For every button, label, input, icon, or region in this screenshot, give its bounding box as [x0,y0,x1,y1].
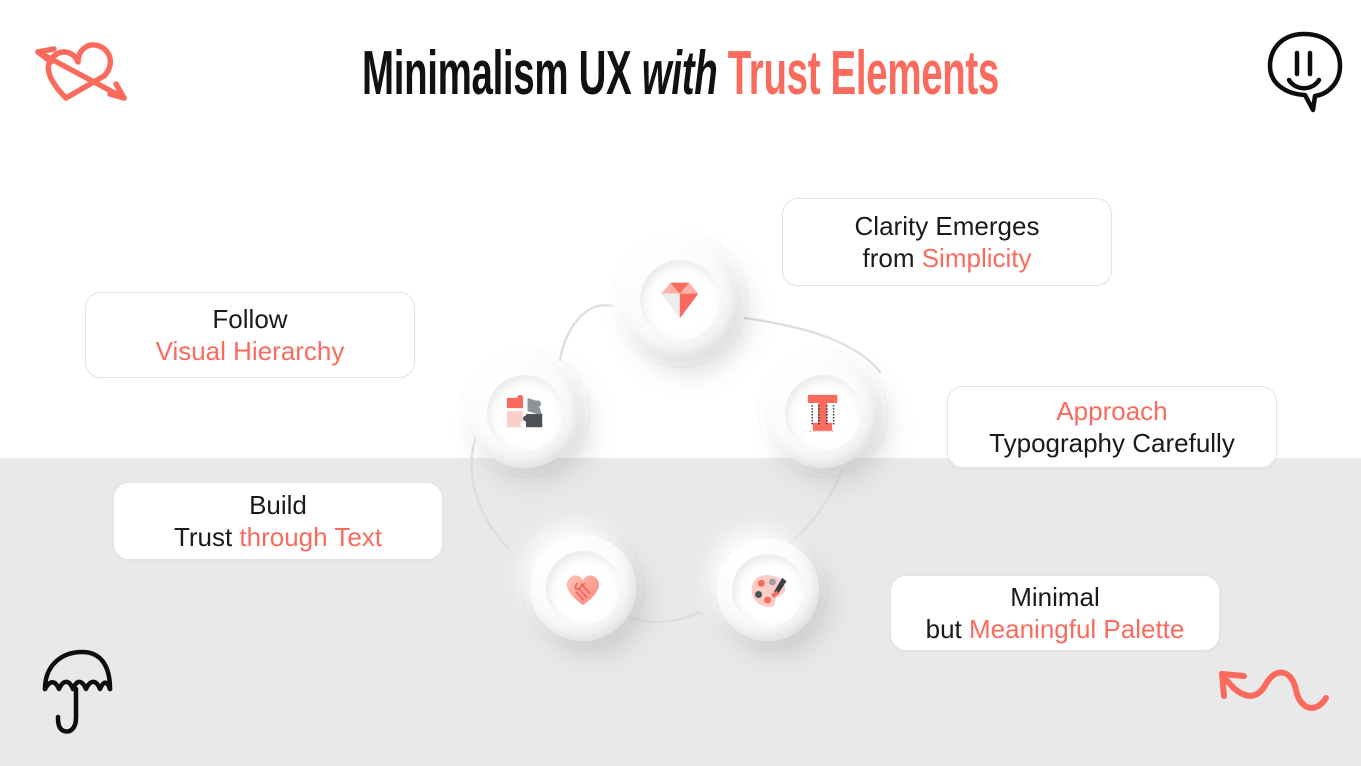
puzzle-icon [501,389,548,436]
card-trust-line-2-accent: through Text [239,522,382,552]
node-dish [640,260,720,340]
card-hierarchy-line-2: Visual Hierarchy [156,335,345,367]
node-palette[interactable] [708,530,828,650]
palette-icon [746,568,791,613]
node-dish [546,551,620,625]
node-puck [530,535,636,641]
node-dish [487,375,563,451]
card-typography-line-2: Typography Carefully [989,427,1235,459]
diamond-icon [655,275,705,325]
node-trust[interactable] [521,526,645,650]
card-palette-line-1: Minimal [926,581,1185,613]
card-trust-line-1: Build [174,489,382,521]
card-clarity-emerges[interactable]: Clarity Emerges from Simplicity [782,198,1112,286]
node-diamond[interactable] [612,232,748,368]
card-visual-hierarchy[interactable]: Follow Visual Hierarchy [85,292,415,378]
card-trust-line-2: Trust through Text [174,521,382,553]
card-clarity-line-1: Clarity Emerges [855,210,1040,242]
card-meaningful-palette[interactable]: Minimal but Meaningful Palette [890,575,1220,651]
node-dish [785,375,861,451]
node-puck [622,242,738,358]
node-puck [768,358,878,468]
node-connector-lines [0,0,1361,766]
card-palette-line-2: but Meaningful Palette [926,613,1185,645]
node-puck [470,358,580,468]
card-clarity-line-2-plain: from [862,243,921,273]
card-clarity-line-2: from Simplicity [855,242,1040,274]
typography-icon [799,389,846,436]
card-typography-line-1: Approach [989,395,1235,427]
node-typography[interactable] [758,348,888,478]
handshake-heart-icon [560,565,606,611]
node-puzzle[interactable] [460,348,590,478]
card-palette-line-2-plain: but [926,614,969,644]
card-palette-line-2-accent: Meaningful Palette [969,614,1184,644]
card-clarity-line-2-accent: Simplicity [922,243,1032,273]
card-typography-carefully[interactable]: Approach Typography Carefully [947,386,1277,468]
card-trust-line-2-plain: Trust [174,522,239,552]
node-dish [732,554,804,626]
card-hierarchy-line-1: Follow [156,303,345,335]
node-puck [717,539,819,641]
slide-canvas: Minimalism UX with Trust Elements [0,0,1361,766]
card-build-trust[interactable]: Build Trust through Text [113,482,443,560]
